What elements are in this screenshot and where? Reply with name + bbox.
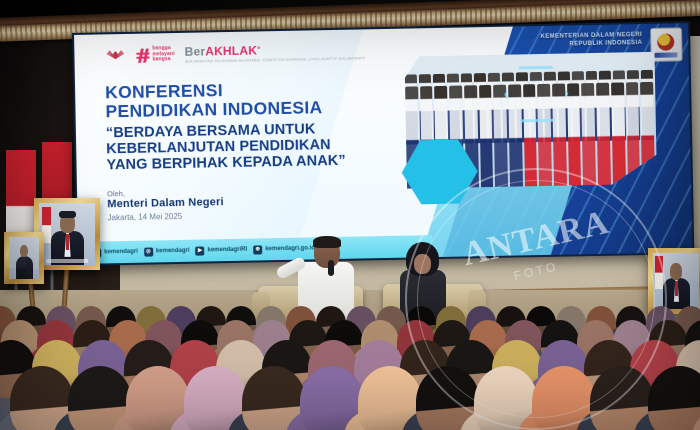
slide-logos: bangga melayani bangsa BerAKHLAK» BERORI…: [104, 41, 366, 65]
photo-person: [479, 85, 494, 187]
photo-person: [493, 85, 508, 187]
portrait-canvas: [9, 237, 39, 279]
slide-quote: “BERDAYA BERSAMA UNTUK KEBERLANJUTAN PEN…: [106, 119, 417, 173]
slide-by-name: Menteri Dalam Negeri: [107, 196, 224, 210]
slide-footer-handle: kemendagri: [104, 249, 138, 256]
berakhlak-prefix: Ber: [184, 44, 205, 58]
moderator-face: [414, 254, 431, 274]
berakhlak-main: AKHLAK: [205, 43, 257, 58]
slide-footer-handle: kemendagriRI: [208, 247, 248, 254]
framed-portrait-small: [4, 232, 44, 284]
microphone-icon: [328, 260, 334, 276]
portrait-face: [20, 245, 28, 258]
presentation-slide: KEMENTERIAN DALAM NEGERI REPUBLIK INDONE…: [74, 23, 692, 264]
ministry-emblem-icon: [650, 27, 683, 62]
bangga-text: bangga melayani bangsa: [152, 46, 175, 63]
website-icon: ⊕: [253, 245, 262, 254]
slide-place-date: Jakarta, 14 Mei 2025: [107, 212, 182, 222]
portrait-face: [670, 263, 682, 280]
slide-title: KONFERENSI PENDIDIKAN INDONESIA: [105, 78, 406, 122]
slide-footer-item: ◎kemendagri: [144, 246, 190, 256]
photo-person: [581, 83, 596, 185]
slide-by-label: Oleh,: [107, 189, 125, 198]
photo-person: [567, 83, 582, 185]
photo-person: [611, 82, 626, 184]
projection-screen: KEMENTERIAN DALAM NEGERI REPUBLIK INDONE…: [72, 21, 694, 266]
photo-person: [596, 83, 611, 185]
portrait-cap: [59, 211, 76, 218]
ministry-label: KEMENTERIAN DALAM NEGERI REPUBLIK INDONE…: [540, 31, 642, 49]
bangga-melayani-bangsa-logo: bangga melayani bangsa: [136, 46, 175, 63]
portrait-flag: [655, 256, 662, 288]
slide-footer-handle: kemendagri: [156, 248, 190, 255]
slide-footer-bar: tkemendagri◎kemendagri▶kemendagriRI⊕keme…: [78, 235, 432, 264]
instagram-icon: ◎: [144, 247, 153, 256]
portrait-tie: [675, 281, 678, 296]
berakhlak-superscript: »: [257, 45, 261, 51]
portrait-tie: [66, 234, 69, 250]
bangga-line-3: bangsa: [152, 57, 174, 63]
berakhlak-logo: BerAKHLAK» BERORIENTASI PELAYANAN AKUNTA…: [184, 41, 365, 63]
audience-rows: [0, 300, 700, 430]
speaker-hair: [313, 236, 341, 248]
portrait-canvas: [39, 203, 95, 265]
youtube-icon: ▶: [195, 246, 204, 255]
garuda-icon: [104, 47, 126, 64]
slide-footer-item: ▶kemendagriRI: [195, 245, 247, 255]
portrait-nameplate: [46, 259, 89, 263]
photo-scene: KEMENTERIAN DALAM NEGERI REPUBLIK INDONE…: [0, 0, 700, 430]
hash-icon: [136, 48, 149, 62]
portrait-suit: [16, 256, 33, 279]
